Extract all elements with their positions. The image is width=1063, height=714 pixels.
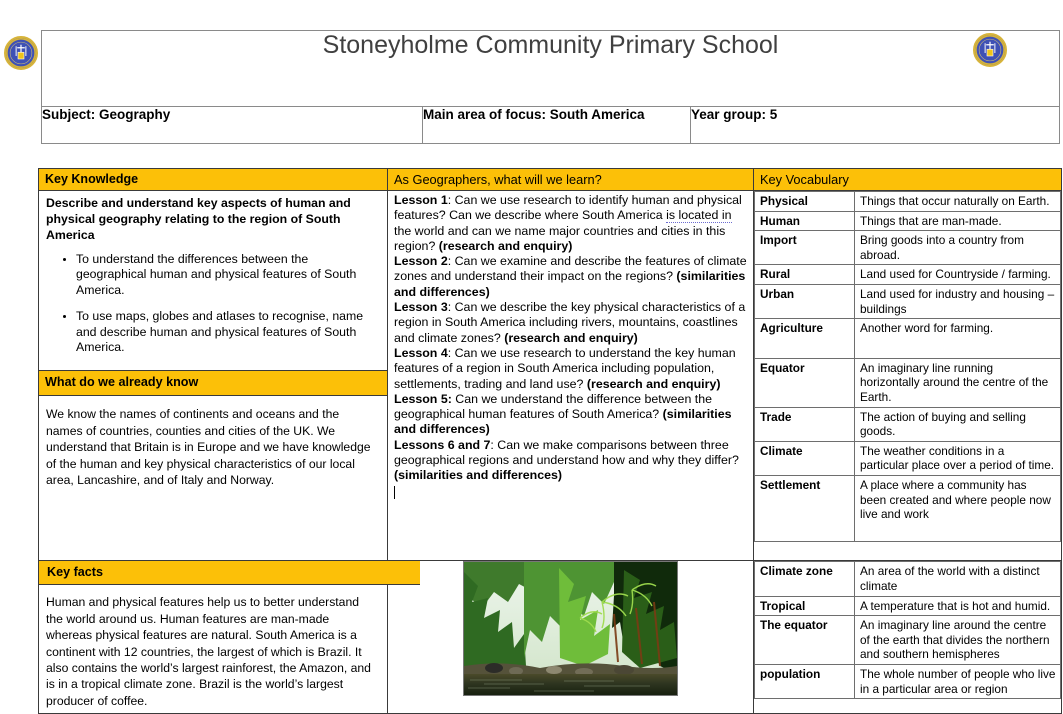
lesson-label: Lesson 5: (394, 392, 452, 406)
lesson-label: Lesson 1 (394, 193, 448, 207)
middle-column: As Geographers, what will we learn? Less… (388, 169, 754, 561)
text-cursor (394, 486, 395, 499)
vocab-term: Import (755, 231, 855, 265)
vocab-definition: A place where a community has been creat… (855, 475, 1061, 541)
table-row: AgricultureAnother word for farming. (755, 319, 1061, 359)
table-row: ClimateThe weather conditions in a parti… (755, 441, 1061, 475)
lessons-body: Lesson 1: Can we use research to identif… (388, 191, 753, 503)
key-knowledge-bullets: To understand the differences between th… (46, 252, 379, 355)
vocab-definition: The whole number of people who live in a… (855, 665, 1061, 699)
spellcheck-underline: is located in (666, 208, 731, 223)
right-column: Key Vocabulary PhysicalThings that occur… (754, 169, 1062, 561)
key-vocabulary-band: Key Vocabulary (754, 169, 1061, 191)
table-row: EquatorAn imaginary line running horizon… (755, 358, 1061, 407)
already-know-band: What do we already know (39, 370, 387, 396)
table-row: HumanThings that are man-made. (755, 211, 1061, 231)
subject-cell: Subject: Geography (42, 107, 423, 144)
table-row: UrbanLand used for industry and housing … (755, 284, 1061, 318)
vocabulary-table-top: PhysicalThings that occur naturally on E… (754, 191, 1061, 542)
vocab-term: Tropical (755, 596, 855, 616)
list-item: To use maps, globes and atlases to recog… (76, 309, 379, 355)
key-knowledge-intro: Describe and understand key aspects of h… (46, 195, 379, 243)
vocab-term: The equator (755, 616, 855, 665)
lesson-label: Lesson 4 (394, 346, 448, 360)
vocab-term: Trade (755, 407, 855, 441)
lesson-item-4: Lesson 4: Can we use research to underst… (394, 346, 747, 392)
vocab-definition: An imaginary line around the centre of t… (855, 616, 1061, 665)
table-row: Climate zoneAn area of the world with a … (755, 562, 1061, 596)
lesson-item-1: Lesson 1: Can we use research to identif… (394, 193, 747, 254)
lesson-item-3: Lesson 3: Can we describe the key physic… (394, 300, 747, 346)
table-row: PhysicalThings that occur naturally on E… (755, 192, 1061, 212)
vocab-term: Climate (755, 441, 855, 475)
vocab-definition: An imaginary line running horizontally a… (855, 358, 1061, 407)
table-row: TradeThe action of buying and selling go… (755, 407, 1061, 441)
document-header-table: Stoneyholme Community Primary School Sub… (41, 30, 1060, 144)
left-column: Key Knowledge Describe and understand ke… (39, 169, 388, 561)
focus-cell: Main area of focus: South America (423, 107, 691, 144)
learning-band: As Geographers, what will we learn? (388, 169, 753, 191)
lesson-skill: (similarities and differences) (394, 468, 562, 482)
vocab-term: Settlement (755, 475, 855, 541)
table-row: SettlementA place where a community has … (755, 475, 1061, 541)
vocab-term: Rural (755, 265, 855, 285)
title-cell: Stoneyholme Community Primary School (42, 31, 1060, 107)
table-row: ImportBring goods into a country from ab… (755, 231, 1061, 265)
lesson-skill: (research and enquiry) (439, 239, 573, 253)
vocab-definition: Land used for industry and housing – bui… (855, 284, 1061, 318)
vocab-term: Human (755, 211, 855, 231)
table-row: populationThe whole number of people who… (755, 665, 1061, 699)
vocab-definition: Bring goods into a country from abroad. (855, 231, 1061, 265)
table-row: RuralLand used for Countryside / farming… (755, 265, 1061, 285)
key-facts-band: Key facts (39, 561, 420, 585)
table-row: TropicalA temperature that is hot and hu… (755, 596, 1061, 616)
vocab-definition: Things that are man-made. (855, 211, 1061, 231)
table-row: The equatorAn imaginary line around the … (755, 616, 1061, 665)
lesson-item-2: Lesson 2: Can we examine and describe th… (394, 254, 747, 300)
vocab-definition: The action of buying and selling goods. (855, 407, 1061, 441)
vocab-definition: A temperature that is hot and humid. (855, 596, 1061, 616)
vocab-term: Agriculture (755, 319, 855, 359)
knowledge-organiser-table: Key Knowledge Describe and understand ke… (38, 168, 1062, 714)
already-know-text: We know the names of continents and ocea… (39, 396, 387, 560)
vocab-definition: The weather conditions in a particular p… (855, 441, 1061, 475)
lesson-label: Lesson 3 (394, 300, 448, 314)
lesson-item-5: Lesson 5: Can we understand the differen… (394, 392, 747, 438)
vocab-term: Urban (755, 284, 855, 318)
lesson-skill: (research and enquiry) (587, 377, 721, 391)
lesson-skill: (research and enquiry) (504, 331, 638, 345)
rainforest-river-photo (463, 561, 678, 696)
lesson-label: Lesson 2 (394, 254, 448, 268)
vocab-term: population (755, 665, 855, 699)
lesson-item-6: Lessons 6 and 7: Can we make comparisons… (394, 438, 747, 484)
vocab-definition: An area of the world with a distinct cli… (855, 562, 1061, 596)
vocab-term: Climate zone (755, 562, 855, 596)
key-knowledge-body: Describe and understand key aspects of h… (39, 191, 387, 370)
key-knowledge-band: Key Knowledge (39, 169, 387, 191)
key-facts-text: Human and physical features help us to b… (39, 585, 387, 713)
year-group-cell: Year group: 5 (691, 107, 1060, 144)
list-item: To understand the differences between th… (76, 252, 379, 298)
vocab-definition: Another word for farming. (855, 319, 1061, 359)
school-crest-logo-left (4, 36, 38, 70)
vocab-definition: Things that occur naturally on Earth. (855, 192, 1061, 212)
vocab-term: Physical (755, 192, 855, 212)
page-title: Stoneyholme Community Primary School (42, 31, 1059, 62)
vocabulary-table-bottom: Climate zoneAn area of the world with a … (754, 561, 1061, 699)
vocab-definition: Land used for Countryside / farming. (855, 265, 1061, 285)
lesson-label: Lessons 6 and 7 (394, 438, 490, 452)
vocab-term: Equator (755, 358, 855, 407)
text-cursor-line (394, 484, 747, 501)
